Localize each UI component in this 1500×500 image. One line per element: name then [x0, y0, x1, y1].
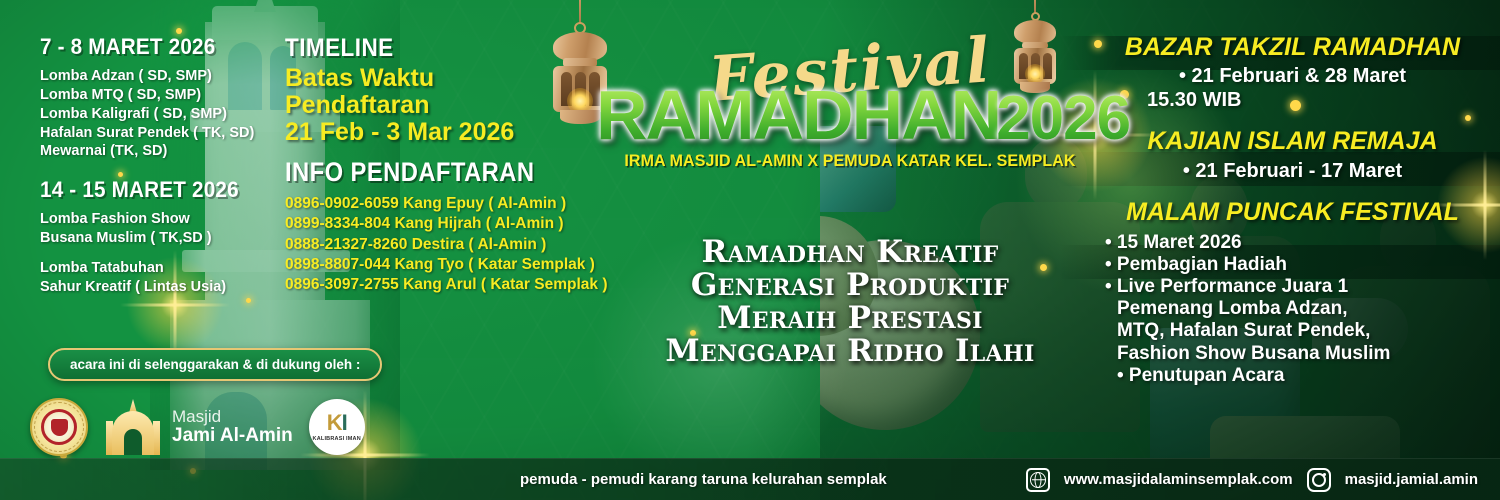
events-column: BAZAR TAKZIL RAMADHAN • 21 Februari & 28…: [1085, 34, 1500, 387]
event-kajian-line1: • 21 Februari - 17 Maret: [1085, 160, 1500, 184]
timeline-title: TIMELINE: [285, 34, 555, 63]
list-item: Mewarnai (TK, SD): [40, 142, 290, 161]
hero-title-block: Festival RAMADHAN2026 IRMA MASJID AL-AMI…: [600, 42, 1100, 171]
contact-item[interactable]: 0888-21327-8260 Destira ( Al-Amin ): [285, 235, 585, 255]
schedule-date-2: 14 - 15 MARET 2026: [40, 177, 275, 203]
footer-website[interactable]: www.masjidalaminsemplak.com: [1064, 471, 1293, 488]
footer-tagline: pemuda - pemudi karang taruna kelurahan …: [0, 471, 887, 488]
info-registration-title: INFO PENDAFTARAN: [285, 157, 549, 188]
masjid-logo-line2: Jami Al-Amin: [172, 425, 293, 447]
masjid-jami-al-amin-logo: Masjid Jami Al-Amin: [104, 399, 293, 455]
supporters-pill: acara ini di selenggarakan & di dukung o…: [48, 348, 382, 381]
list-item: • Live Performance Juara 1 Pemenang Lomb…: [1105, 276, 1500, 365]
slogan-block: Ramadhan Kreatif Generasi Produktif Mera…: [600, 236, 1100, 367]
globe-icon: [1026, 468, 1050, 492]
list-item: Lomba MTQ ( SD, SMP): [40, 86, 290, 105]
event-malam-puncak-list: • 15 Maret 2026 • Pembagian Hadiah • Liv…: [1085, 232, 1500, 388]
slogan-line: Ramadhan Kreatif: [600, 236, 1100, 269]
event-heading-malam-puncak: MALAM PUNCAK FESTIVAL: [1085, 199, 1500, 225]
schedule-column: 7 - 8 MARET 2026 Lomba Adzan ( SD, SMP) …: [40, 34, 290, 313]
schedule-list-2: Lomba Fashion Show Busana Muslim ( TK,SD…: [40, 210, 290, 296]
list-item: Lomba Fashion Show: [40, 210, 290, 229]
slogan-line: Menggapai Ridho Ilahi: [600, 335, 1100, 368]
schedule-date-1: 7 - 8 MARET 2026: [40, 34, 275, 60]
footer-bar: pemuda - pemudi karang taruna kelurahan …: [0, 458, 1500, 500]
contact-list: 0896-0902-6059 Kang Epuy ( Al-Amin ) 089…: [285, 194, 585, 295]
list-item: Busana Muslim ( TK,SD ): [40, 229, 290, 248]
organizer-line: IRMA MASJID AL-AMIN X PEMUDA KATAR KEL. …: [608, 152, 1093, 171]
instagram-icon[interactable]: [1307, 468, 1331, 492]
event-heading-kajian: KAJIAN ISLAM REMAJA: [1085, 128, 1500, 154]
event-bazar-line2: 15.30 WIB: [1085, 89, 1500, 113]
main-title: RAMADHAN2026: [600, 80, 1100, 150]
list-item: Lomba Tatabuhan: [40, 259, 290, 278]
slogan-line: Meraih Prestasi: [600, 302, 1100, 335]
supporter-logos: Masjid Jami Al-Amin KI KALIBRASI IMAN: [30, 398, 365, 456]
contact-item[interactable]: 0899-8334-804 Kang Hijrah ( Al-Amin ): [285, 214, 585, 234]
masjid-logo-line1: Masjid: [172, 408, 293, 425]
mosque-glyph-icon: [104, 399, 162, 455]
list-item-cont: Pemenang Lomba Adzan,: [1105, 298, 1500, 320]
list-item: • Pembagian Hadiah: [1105, 254, 1500, 276]
list-item-cont: MTQ, Hafalan Surat Pendek,: [1105, 320, 1500, 342]
ki-caption: KALIBRASI IMAN: [313, 436, 361, 442]
contact-item[interactable]: 0896-0902-6059 Kang Epuy ( Al-Amin ): [285, 194, 585, 214]
list-item-cont: Fashion Show Busana Muslim: [1105, 343, 1500, 365]
ki-monogram: KI: [327, 412, 347, 434]
timeline-column: TIMELINE Batas Waktu Pendaftaran 21 Feb …: [285, 34, 585, 295]
event-bazar-line1: • 21 Februari & 28 Maret: [1085, 65, 1500, 89]
list-item: Hafalan Surat Pendek ( TK, SD): [40, 124, 290, 143]
footer-instagram-handle[interactable]: masjid.jamial.amin: [1345, 471, 1478, 488]
timeline-sub-2: Pendaftaran: [285, 92, 585, 119]
contact-item[interactable]: 0896-3097-2755 Kang Arul ( Katar Semplak…: [285, 275, 585, 295]
main-title-word: RAMADHAN: [596, 80, 1000, 150]
ramadhan-festival-banner: 7 - 8 MARET 2026 Lomba Adzan ( SD, SMP) …: [0, 0, 1500, 500]
slogan-line: Generasi Produktif: [600, 269, 1100, 302]
timeline-sub-3: 21 Feb - 3 Mar 2026: [285, 119, 585, 146]
event-heading-bazar: BAZAR TAKZIL RAMADHAN: [1085, 34, 1500, 60]
list-item: • Penutupan Acara: [1105, 365, 1500, 387]
list-item: • 15 Maret 2026: [1105, 232, 1500, 254]
timeline-sub-1: Batas Waktu: [285, 65, 585, 92]
list-spacer: [40, 248, 290, 259]
schedule-list-1: Lomba Adzan ( SD, SMP) Lomba MTQ ( SD, S…: [40, 67, 290, 161]
list-item-label: • Live Performance Juara 1: [1105, 276, 1348, 297]
kalibrasi-iman-logo-icon: KI KALIBRASI IMAN: [309, 399, 365, 455]
karang-taruna-badge-icon: [30, 398, 88, 456]
list-item: Lomba Adzan ( SD, SMP): [40, 67, 290, 86]
list-item: Sahur Kreatif ( Lintas Usia): [40, 278, 290, 297]
list-item: Lomba Kaligrafi ( SD, SMP): [40, 105, 290, 124]
contact-item[interactable]: 0898-8807-044 Kang Tyo ( Katar Semplak ): [285, 255, 585, 275]
